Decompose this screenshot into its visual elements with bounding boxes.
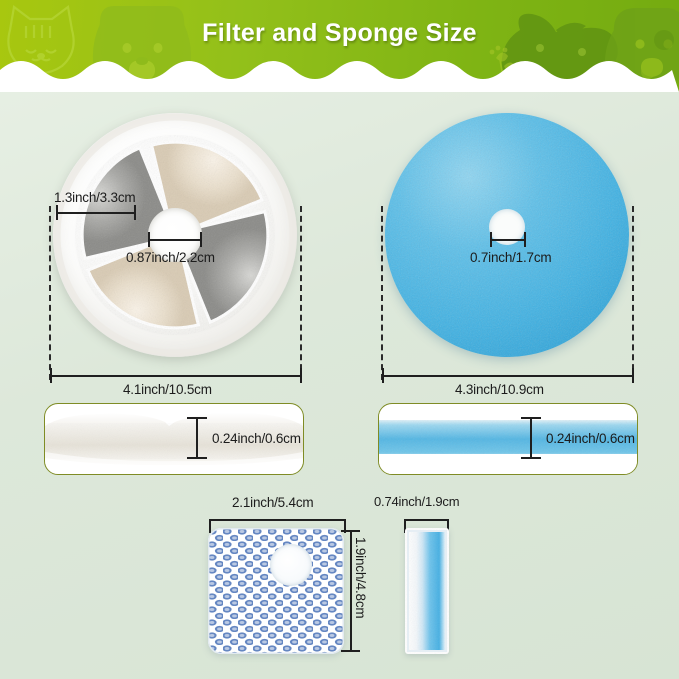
side-strip-texture [405,528,449,654]
sponge-guide-left [381,206,383,380]
filter-hole-tick-right [200,232,202,247]
filter-diameter-label: 4.1inch/10.5cm [123,382,212,397]
sponge-thickness-label: 0.24inch/0.6cm [546,431,635,446]
square-pad-width-label: 2.1inch/5.4cm [232,495,313,510]
filter-pad-width-line [56,212,136,214]
filter-pad-width-tick-right [134,205,136,220]
filter-guide-right [300,206,302,380]
sponge-diameter-label: 4.3inch/10.9cm [455,382,544,397]
square-pad-body [208,528,344,654]
sponge-thickness-cap-top [521,417,541,419]
square-pad-height-cap-top [341,530,360,532]
square-pad-side-strip [405,528,449,654]
sponge-thickness-cap-bottom [521,457,541,459]
filter-hole-tick-left [148,232,150,247]
square-pad-width-tick-left [209,519,211,533]
square-pad-height-line [350,530,352,652]
square-pad-side-label: 0.74inch/1.9cm [374,494,459,509]
filter-pad-width-label: 1.3inch/3.3cm [54,190,135,205]
sponge-hole-tick-left [490,232,492,247]
sponge-thickness-line [530,417,532,459]
filter-thickness-label: 0.24inch/0.6cm [212,431,301,446]
square-pad-side-line [404,519,449,521]
square-pad-height-cap-bottom [341,650,360,652]
header-banner: Filter and Sponge Size [0,0,679,92]
filter-hole-line [148,239,202,241]
filter-thickness-panel: 0.24inch/0.6cm [44,403,304,475]
sponge-diameter-tick-right [632,368,634,383]
sponge-diameter-line [382,375,634,377]
filter-pad-width-tick-left [56,205,58,220]
square-pad-mesh-texture [208,528,344,654]
filter-diameter-tick-left [50,368,52,383]
page-title: Filter and Sponge Size [0,19,679,48]
sponge-diameter-tick-left [382,368,384,383]
square-pad-hole [270,544,312,586]
filter-thickness-cap-top [187,417,207,419]
filter-guide-left [49,206,51,380]
square-pad-height-label: 1.9inch/4.8cm [353,537,368,618]
filter-diameter-line [50,375,302,377]
filter-diameter-tick-right [300,368,302,383]
sponge-hole-label: 0.7inch/1.7cm [470,250,551,265]
filter-thickness-cap-bottom [187,457,207,459]
sponge-thickness-panel: 0.24inch/0.6cm [378,403,638,475]
sponge-guide-right [632,206,634,380]
sponge-hole-line [490,239,526,241]
sponge-hole-tick-right [524,232,526,247]
filter-hole-label: 0.87inch/2.2cm [126,250,215,265]
filter-thickness-line [196,417,198,459]
square-pad-width-line [209,519,346,521]
